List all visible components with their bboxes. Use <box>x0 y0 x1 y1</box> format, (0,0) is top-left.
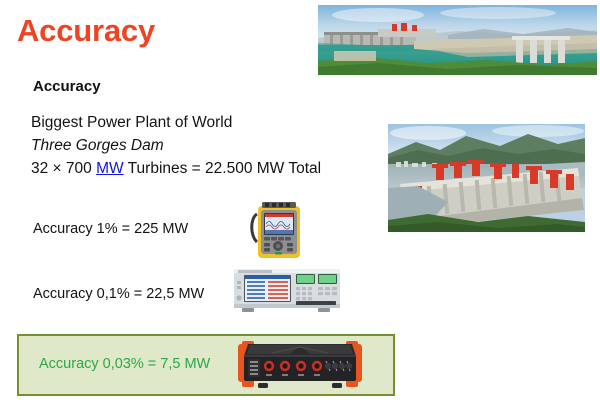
mw-hyperlink[interactable]: MW <box>96 160 124 177</box>
photo-three-gorges-dam-closeup <box>388 124 585 232</box>
slide-canvas: Accuracy Accuracy Biggest Power Plant of… <box>0 0 600 408</box>
turbines-suffix: Turbines = 22.500 MW Total <box>124 160 321 177</box>
section-heading: Accuracy <box>33 78 101 95</box>
body-line-turbines: 32 × 700 MW Turbines = 22.500 MW Total <box>31 157 321 180</box>
body-line-plant: Biggest Power Plant of World <box>31 111 321 134</box>
portable-power-analyzer-image <box>236 338 364 394</box>
page-title: Accuracy <box>17 14 155 48</box>
handheld-power-analyzer-image <box>248 198 310 264</box>
turbines-prefix: 32 × 700 <box>31 160 96 177</box>
body-line-dam-name: Three Gorges Dam <box>31 134 321 157</box>
accuracy-row-2-label: Accuracy 0,1% = 22,5 MW <box>33 286 204 302</box>
bench-power-analyzer-image <box>232 267 342 314</box>
body-text-block: Biggest Power Plant of World Three Gorge… <box>31 111 321 180</box>
accuracy-row-3-label: Accuracy 0,03% = 7,5 MW <box>39 356 210 372</box>
photo-three-gorges-dam-aerial <box>318 5 597 75</box>
accuracy-row-1-label: Accuracy 1% = 225 MW <box>33 221 188 237</box>
